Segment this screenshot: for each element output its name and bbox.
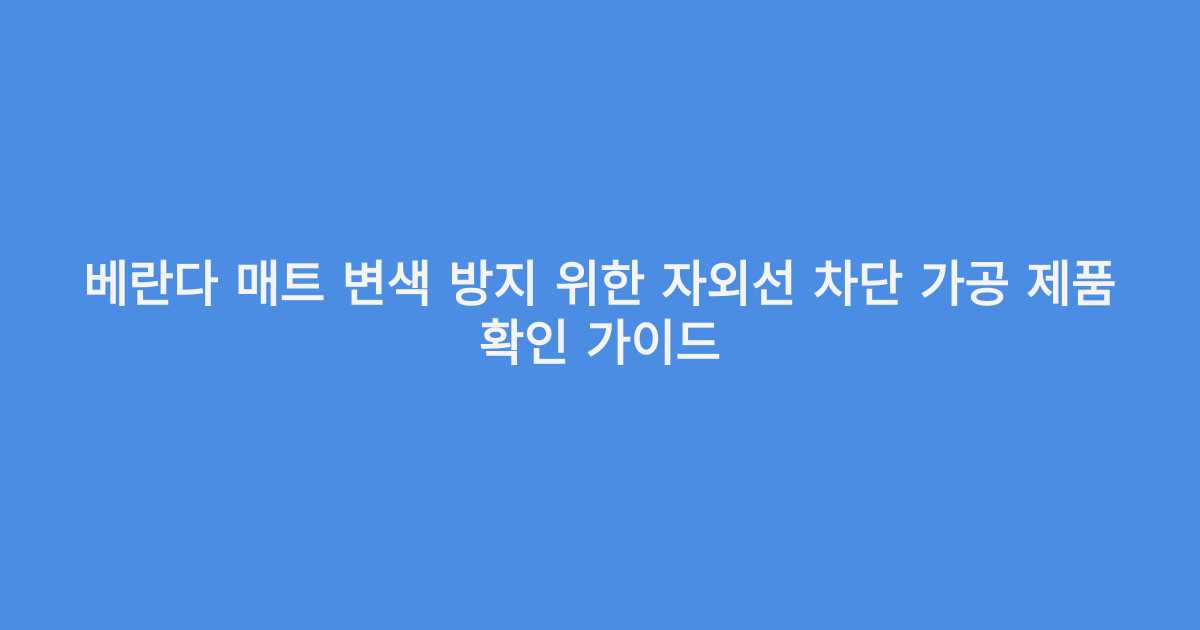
headline-block: 베란다 매트 변색 방지 위한 자외선 차단 가공 제품 확인 가이드 <box>0 256 1200 374</box>
social-share-card: 베란다 매트 변색 방지 위한 자외선 차단 가공 제품 확인 가이드 <box>0 0 1200 630</box>
page-title: 베란다 매트 변색 방지 위한 자외선 차단 가공 제품 확인 가이드 <box>52 256 1148 374</box>
